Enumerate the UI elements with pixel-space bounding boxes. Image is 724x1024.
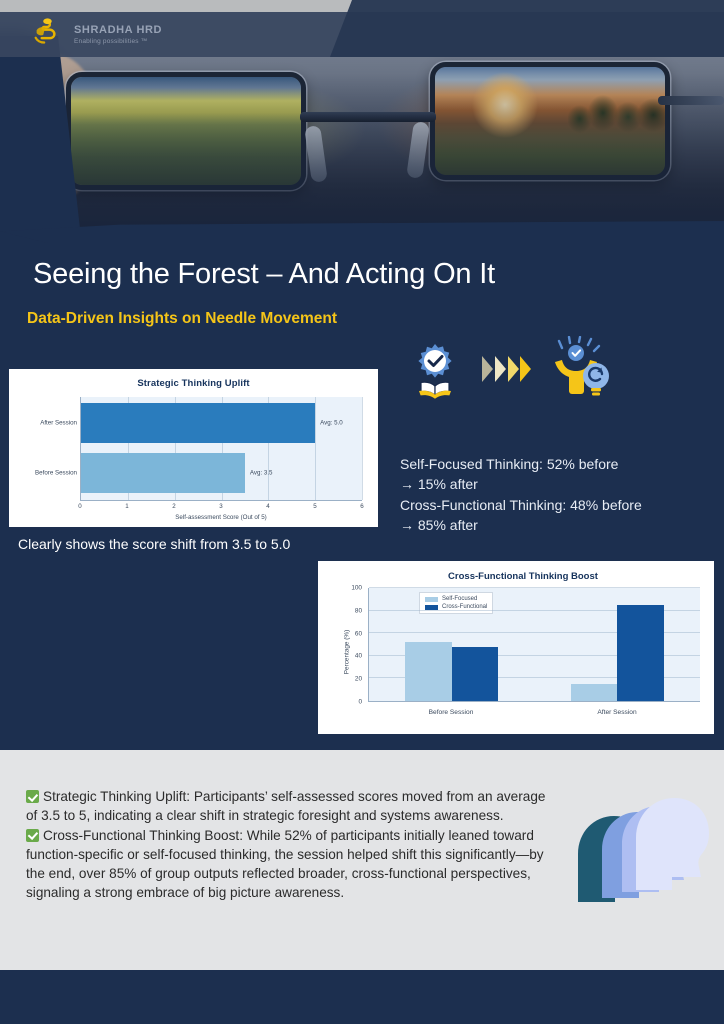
chart1-x-axis: 0123456: [80, 503, 362, 513]
chart1-bar: After SessionAvg: 5.0: [81, 403, 315, 443]
chart2-gridline: [369, 587, 700, 588]
chart1-x-tick: 5: [313, 503, 316, 510]
chart2-area: Percentage (%) 020406080100 Self-Focused…: [324, 588, 704, 716]
check-icon: [26, 829, 39, 842]
chart2-legend-swatch: [425, 597, 438, 602]
page-title: Seeing the Forest – And Acting On It: [33, 258, 495, 291]
chart1-caption: Clearly shows the score shift from 3.5 t…: [18, 536, 290, 552]
chart2-y-tick: 60: [336, 630, 362, 637]
chart1-gridline: [362, 397, 363, 500]
stat-line-1: Self-Focused Thinking: 52% before: [400, 454, 672, 474]
footer-bar: [0, 970, 724, 1024]
chart1-x-tick: 4: [266, 503, 269, 510]
chart2-y-tick: 100: [336, 585, 362, 592]
insights-bullet-list: Strategic Thinking Uplift: Participants’…: [26, 787, 554, 903]
infographic-page: SHRADHA HRD Enabling possibilities ™ See…: [0, 0, 724, 1024]
chart1-x-tick: 0: [78, 503, 81, 510]
chart2-title: Cross-Functional Thinking Boost: [342, 571, 704, 582]
chart1-value-label: Avg: 3.5: [250, 470, 273, 477]
bullet-text: Cross-Functional Thinking Boost: While 5…: [26, 828, 544, 901]
chart2-bar: [405, 642, 451, 701]
chart2-legend: Self-FocusedCross-Functional: [419, 592, 493, 614]
check-icon: [26, 790, 39, 803]
brand-text: SHRADHA HRD Enabling possibilities ™: [74, 24, 162, 45]
chart2-x-category: Before Session: [429, 709, 474, 716]
stat-line-2: → 15% after: [400, 474, 672, 494]
chart1-x-axis-label: Self-assessment Score (Out of 5): [72, 514, 370, 521]
chart2-y-tick: 0: [336, 699, 362, 706]
chevrons-right-icon: [480, 352, 532, 386]
chart2-y-tick: 80: [336, 607, 362, 614]
list-item: Strategic Thinking Uplift: Participants’…: [26, 787, 554, 826]
lamp-icon: [28, 17, 66, 51]
page-subtitle: Data-Driven Insights on Needle Movement: [27, 308, 347, 329]
brand-logo: SHRADHA HRD Enabling possibilities ™: [28, 12, 162, 56]
chart2-bar: [452, 647, 498, 701]
hero-banner: SHRADHA HRD Enabling possibilities ™: [0, 0, 724, 245]
chart2-plot-area: Self-FocusedCross-Functional: [368, 588, 700, 702]
chart1-gridline: [315, 397, 316, 500]
chart1-x-tick: 3: [219, 503, 222, 510]
chart2-legend-label: Self-Focused: [442, 596, 477, 602]
chart-cross-functional-thinking-boost: Cross-Functional Thinking Boost Percenta…: [318, 561, 714, 734]
chart2-x-category: After Session: [597, 709, 636, 716]
process-icon-strip: [404, 331, 654, 407]
gear-clock-book-icon: [404, 338, 466, 400]
brand-name: SHRADHA HRD: [74, 24, 162, 36]
chart2-bar: [617, 605, 663, 701]
brand-tagline: Enabling possibilities ™: [74, 38, 162, 45]
chart2-y-tick: 20: [336, 676, 362, 683]
chart1-x-tick: 6: [360, 503, 363, 510]
chart1-category-label: Before Session: [21, 470, 81, 477]
person-idea-lightbulb-icon: [546, 336, 614, 402]
chart1-x-tick: 1: [125, 503, 128, 510]
list-item: Cross-Functional Thinking Boost: While 5…: [26, 826, 554, 903]
chart1-bar: Before SessionAvg: 3.5: [81, 453, 245, 493]
chart-strategic-thinking-uplift: Strategic Thinking Uplift After SessionA…: [9, 369, 378, 527]
chart1-title: Strategic Thinking Uplift: [17, 378, 370, 389]
stats-summary-text: Self-Focused Thinking: 52% before → 15% …: [400, 454, 672, 536]
chart2-legend-item: Self-Focused: [425, 596, 487, 602]
stat-line-4: → 85% after: [400, 515, 672, 535]
top-diagonal-shape: [330, 0, 724, 57]
bullet-text: Strategic Thinking Uplift: Participants’…: [26, 789, 545, 823]
chart1-value-label: Avg: 5.0: [320, 420, 343, 427]
chart2-bar: [571, 684, 617, 701]
stat-line-3: Cross-Functional Thinking: 48% before: [400, 495, 672, 515]
chart1-category-label: After Session: [21, 420, 81, 427]
overlapping-head-profiles-icon: [560, 790, 710, 930]
chart1-plot-area: After SessionAvg: 5.0Before SessionAvg: …: [80, 397, 362, 501]
chart2-y-tick: 40: [336, 653, 362, 660]
chart1-x-tick: 2: [172, 503, 175, 510]
